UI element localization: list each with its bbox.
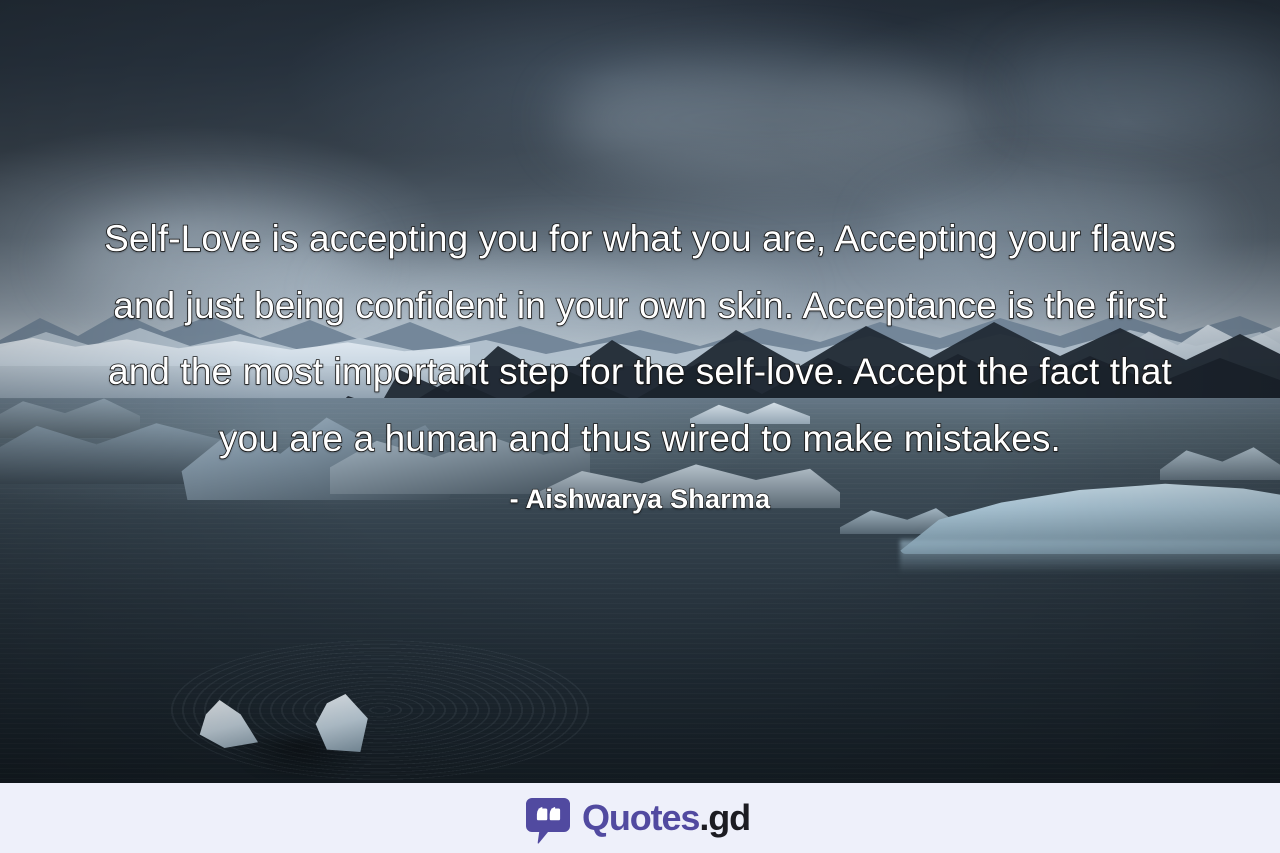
quote-author: - Aishwarya Sharma [510, 484, 771, 515]
quote-overlay: Self-Love is accepting you for what you … [0, 0, 1280, 783]
quote-card: Self-Love is accepting you for what you … [0, 0, 1280, 853]
footer-bar: Quotes.gd [0, 783, 1280, 853]
brand-name: Quotes [582, 797, 699, 838]
quote-text: Self-Love is accepting you for what you … [95, 206, 1185, 472]
brand-wordmark: Quotes.gd [582, 800, 750, 836]
brand-logo[interactable]: Quotes.gd [526, 796, 750, 840]
brand-tld: .gd [699, 797, 750, 838]
quote-bubble-icon [526, 796, 570, 840]
